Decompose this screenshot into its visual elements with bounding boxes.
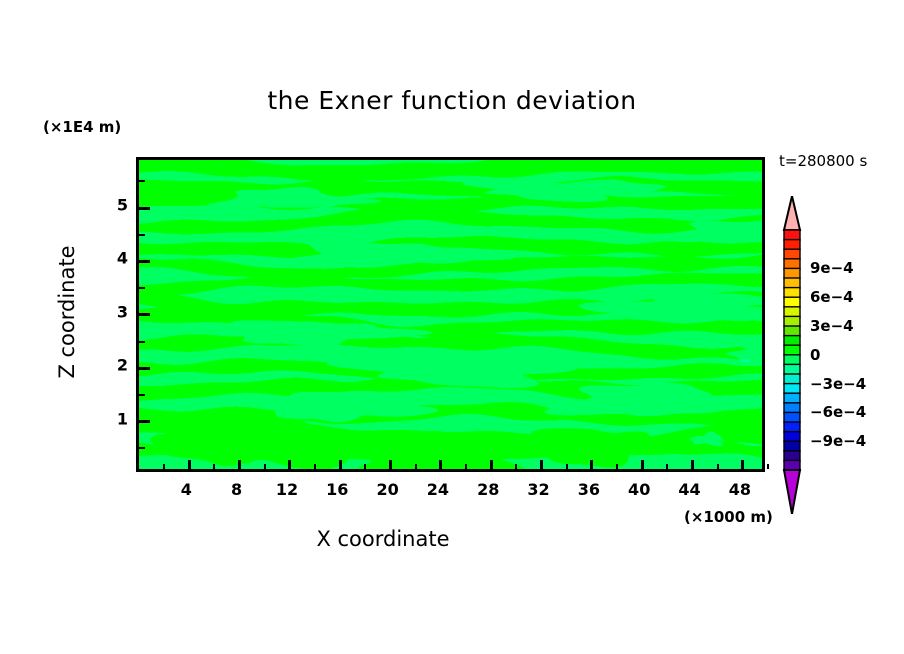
x-tick-minor xyxy=(717,464,719,469)
colorbar-tick-label: 3e−4 xyxy=(810,317,854,335)
colorbar-band xyxy=(784,240,800,250)
timestamp-label: t=280800 s xyxy=(779,152,867,170)
colorbar-tick-label: −3e−4 xyxy=(810,375,866,393)
colorbar-band xyxy=(784,441,800,451)
x-tick-label: 36 xyxy=(578,480,600,499)
x-tick-label: 28 xyxy=(477,480,499,499)
x-tick-major xyxy=(288,460,291,469)
x-tick-major xyxy=(490,460,493,469)
colorbar-band xyxy=(784,345,800,355)
contour-field xyxy=(139,160,762,469)
colorbar-band xyxy=(784,451,800,461)
y-tick-major xyxy=(139,367,150,370)
colorbar-tick-label: −9e−4 xyxy=(810,432,866,450)
x-tick-label: 40 xyxy=(628,480,650,499)
colorbar-band xyxy=(784,326,800,336)
colorbar-cap-bottom xyxy=(784,470,800,514)
colorbar-band xyxy=(784,364,800,374)
y-tick-minor xyxy=(139,394,145,396)
x-tick-minor xyxy=(465,464,467,469)
x-tick-major xyxy=(741,460,744,469)
x-tick-major xyxy=(439,460,442,469)
x-tick-label: 4 xyxy=(181,480,192,499)
x-tick-label: 8 xyxy=(231,480,242,499)
x-tick-major xyxy=(339,460,342,469)
plot-area xyxy=(136,157,765,472)
y-tick-major xyxy=(139,207,150,210)
colorbar-band xyxy=(784,412,800,422)
x-tick-major xyxy=(389,460,392,469)
colorbar-band xyxy=(784,432,800,442)
y-axis-title: Z coordinate xyxy=(55,212,79,412)
y-axis-unit-label: (×1E4 m) xyxy=(43,118,121,136)
x-tick-label: 32 xyxy=(527,480,549,499)
x-tick-minor xyxy=(163,464,165,469)
page-title: the Exner function deviation xyxy=(0,86,904,115)
x-tick-minor xyxy=(515,464,517,469)
colorbar-band xyxy=(784,403,800,413)
y-tick-minor xyxy=(139,180,145,182)
x-tick-minor xyxy=(415,464,417,469)
y-tick-label: 4 xyxy=(104,249,128,268)
x-tick-minor xyxy=(314,464,316,469)
x-tick-minor xyxy=(213,464,215,469)
colorbar-band xyxy=(784,307,800,317)
x-tick-major xyxy=(540,460,543,469)
colorbar-band xyxy=(784,355,800,365)
x-tick-major xyxy=(188,460,191,469)
x-tick-label: 44 xyxy=(678,480,700,499)
colorbar-tick-label: −6e−4 xyxy=(810,403,866,421)
x-tick-label: 24 xyxy=(427,480,449,499)
y-tick-major xyxy=(139,420,150,423)
colorbar-band xyxy=(784,249,800,259)
y-tick-major xyxy=(139,260,150,263)
x-tick-major xyxy=(691,460,694,469)
colorbar-band xyxy=(784,384,800,394)
colorbar-band xyxy=(784,374,800,384)
y-tick-minor xyxy=(139,447,145,449)
x-tick-minor xyxy=(767,464,769,469)
colorbar-tick-label: 6e−4 xyxy=(810,288,854,306)
colorbar-band xyxy=(784,316,800,326)
x-tick-major xyxy=(238,460,241,469)
x-tick-label: 48 xyxy=(729,480,751,499)
colorbar-tick-label: 0 xyxy=(810,346,820,364)
x-tick-label: 12 xyxy=(276,480,298,499)
colorbar-band xyxy=(784,230,800,240)
colorbar-tick-label: 9e−4 xyxy=(810,259,854,277)
x-tick-label: 20 xyxy=(376,480,398,499)
y-tick-major xyxy=(139,313,150,316)
colorbar-band xyxy=(784,297,800,307)
colorbar-band xyxy=(784,336,800,346)
colorbar-band xyxy=(784,278,800,288)
x-axis-unit-label: (×1000 m) xyxy=(684,508,773,526)
x-tick-minor xyxy=(666,464,668,469)
y-tick-minor xyxy=(139,234,145,236)
x-tick-minor xyxy=(616,464,618,469)
colorbar-band xyxy=(784,268,800,278)
x-tick-major xyxy=(590,460,593,469)
y-tick-label: 2 xyxy=(104,356,128,375)
y-tick-label: 1 xyxy=(104,409,128,428)
colorbar xyxy=(778,196,806,514)
y-tick-label: 5 xyxy=(104,196,128,215)
x-tick-label: 16 xyxy=(326,480,348,499)
y-tick-minor xyxy=(139,341,145,343)
colorbar-cap-top xyxy=(784,196,800,230)
y-tick-label: 3 xyxy=(104,302,128,321)
x-tick-minor xyxy=(264,464,266,469)
x-tick-minor xyxy=(566,464,568,469)
x-tick-minor xyxy=(364,464,366,469)
x-axis-title: X coordinate xyxy=(0,527,766,551)
colorbar-band xyxy=(784,288,800,298)
colorbar-band xyxy=(784,422,800,432)
colorbar-band xyxy=(784,259,800,269)
x-tick-major xyxy=(641,460,644,469)
colorbar-band xyxy=(784,393,800,403)
y-tick-minor xyxy=(139,287,145,289)
